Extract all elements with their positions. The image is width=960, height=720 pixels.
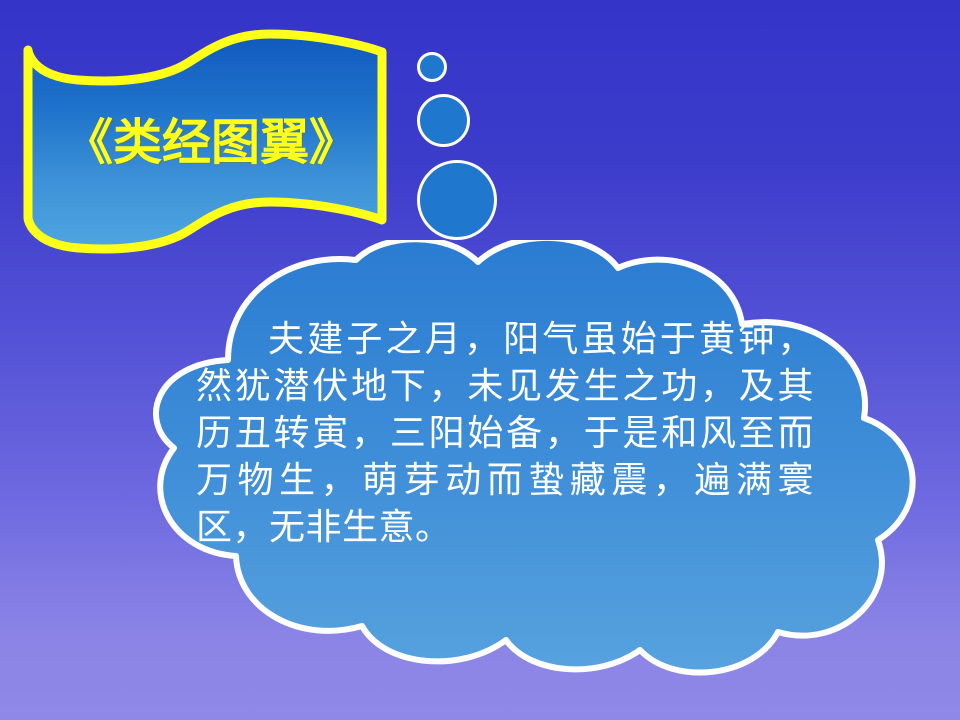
banner-title-container: 《类经图翼》 bbox=[18, 24, 398, 252]
flag-banner: 《类经图翼》 bbox=[18, 24, 398, 252]
thought-bubble-medium bbox=[417, 94, 470, 147]
banner-title: 《类经图翼》 bbox=[64, 103, 358, 174]
thought-bubble-large bbox=[417, 160, 497, 240]
thought-bubble-small bbox=[417, 52, 447, 82]
cloud-body-text: 夫建子之月，阳气虽始于黄钟，然犹潜伏地下，未见发生之功，及其历丑转寅，三阳始备，… bbox=[196, 316, 814, 551]
presentation-slide: 《类经图翼》 夫建子之月，阳气虽始于黄钟，然犹潜伏地下，未见发生之功，及其历丑转… bbox=[0, 0, 960, 720]
